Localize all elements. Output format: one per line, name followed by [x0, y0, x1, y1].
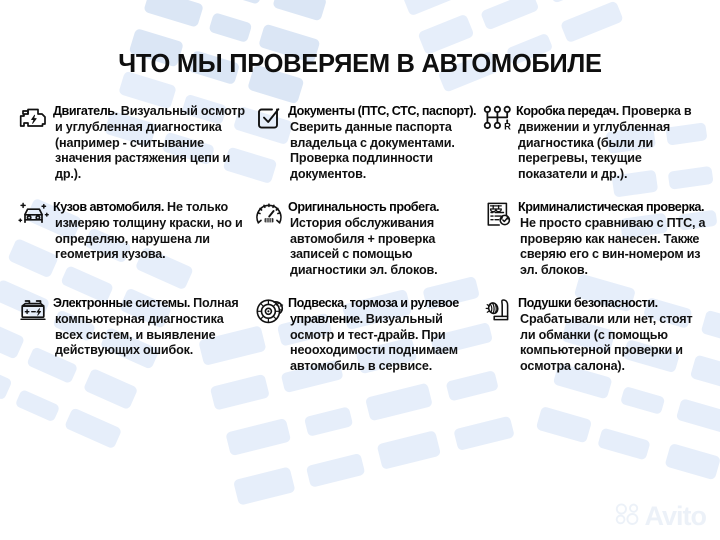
checklist-grid: Двигатель. Визуальный осмотр и углубленн… [18, 104, 708, 375]
checklist-item-text: Электронные системы. Полная компьютерная… [55, 296, 251, 359]
car-battery-icon [18, 297, 50, 327]
checklist-item-lead: Электронные системы. [53, 296, 190, 310]
avito-watermark: Avito [615, 501, 707, 532]
checklist-item-rest: Не просто сравниваю с ПТС, а проверяю ка… [520, 216, 705, 277]
gearbox-shifter-icon: R [483, 105, 513, 135]
svg-text:R: R [504, 121, 511, 132]
checklist-item-rest: Срабатывали или нет, стоят ли обманки (с… [520, 312, 693, 373]
airbag-seat-icon [483, 297, 515, 327]
checkbox-check-icon [253, 105, 285, 135]
checklist-item-electronics: Электронные системы. Полная компьютерная… [18, 296, 253, 375]
engine-check-icon [18, 105, 50, 135]
odometer-gauge-icon [253, 201, 285, 231]
checklist-item-suspension-brakes: Подвеска, тормоза и рулевое управление. … [253, 296, 483, 375]
checklist-item-lead: Документы (ПТС, СТС, паспорт). [288, 104, 476, 118]
avito-logo-icon [615, 503, 641, 530]
checklist-item-lead: Кузов автомобиля. [53, 200, 164, 214]
checklist-item-lead: Оригинальность пробега. [288, 200, 439, 214]
checklist-item-text: Коробка передач. Проверка в движении и у… [518, 104, 708, 183]
checklist-item-lead: Коробка передач. [516, 104, 619, 118]
checklist-item-text: Подушки безопасности. Срабатывали или не… [520, 296, 708, 375]
checklist-item-rest: История обслуживания автомобиля + провер… [290, 216, 437, 277]
checklist-item-body: Кузов автомобиля. Не только измеряю толщ… [18, 200, 253, 279]
checklist-item-text: Документы (ПТС, СТС, паспорт). Сверить д… [290, 104, 483, 183]
certificate-seal-icon [483, 201, 515, 231]
brake-disc-icon [253, 297, 285, 327]
infographic-page: ЧТО МЫ ПРОВЕРЯЕМ В АВТОМОБИЛЕ Двигатель.… [0, 0, 720, 540]
car-sparkle-icon [18, 201, 50, 231]
checklist-item-text: Кузов автомобиля. Не только измеряю толщ… [55, 200, 251, 263]
checklist-item-rest: Сверить данные паспорта владельца с доку… [290, 120, 455, 181]
checklist-item-lead: Криминалистическая проверка. [518, 200, 704, 214]
avito-watermark-text: Avito [645, 501, 707, 532]
checklist-item-text: Подвеска, тормоза и рулевое управление. … [290, 296, 483, 375]
checklist-item-text: Двигатель. Визуальный осмотр и углубленн… [55, 104, 251, 183]
checklist-item-lead: Подушки безопасности. [518, 296, 658, 310]
checklist-item-lead: Двигатель. [53, 104, 118, 118]
page-title: ЧТО МЫ ПРОВЕРЯЕМ В АВТОМОБИЛЕ [0, 50, 720, 79]
checklist-item-airbags: Подушки безопасности. Срабатывали или не… [483, 296, 708, 375]
checklist-item-documents: Документы (ПТС, СТС, паспорт). Сверить д… [253, 104, 483, 183]
checklist-item-text: Оригинальность пробега. История обслужив… [290, 200, 483, 279]
checklist-item-criminalistics: Криминалистическая проверка. Не просто с… [483, 200, 708, 279]
checklist-item-mileage: Оригинальность пробега. История обслужив… [253, 200, 483, 279]
checklist-item-text: Криминалистическая проверка. Не просто с… [520, 200, 708, 279]
checklist-item-gearbox: R Коробка передач. Проверка в движении и… [483, 104, 708, 183]
checklist-item-engine: Двигатель. Визуальный осмотр и углубленн… [18, 104, 253, 183]
